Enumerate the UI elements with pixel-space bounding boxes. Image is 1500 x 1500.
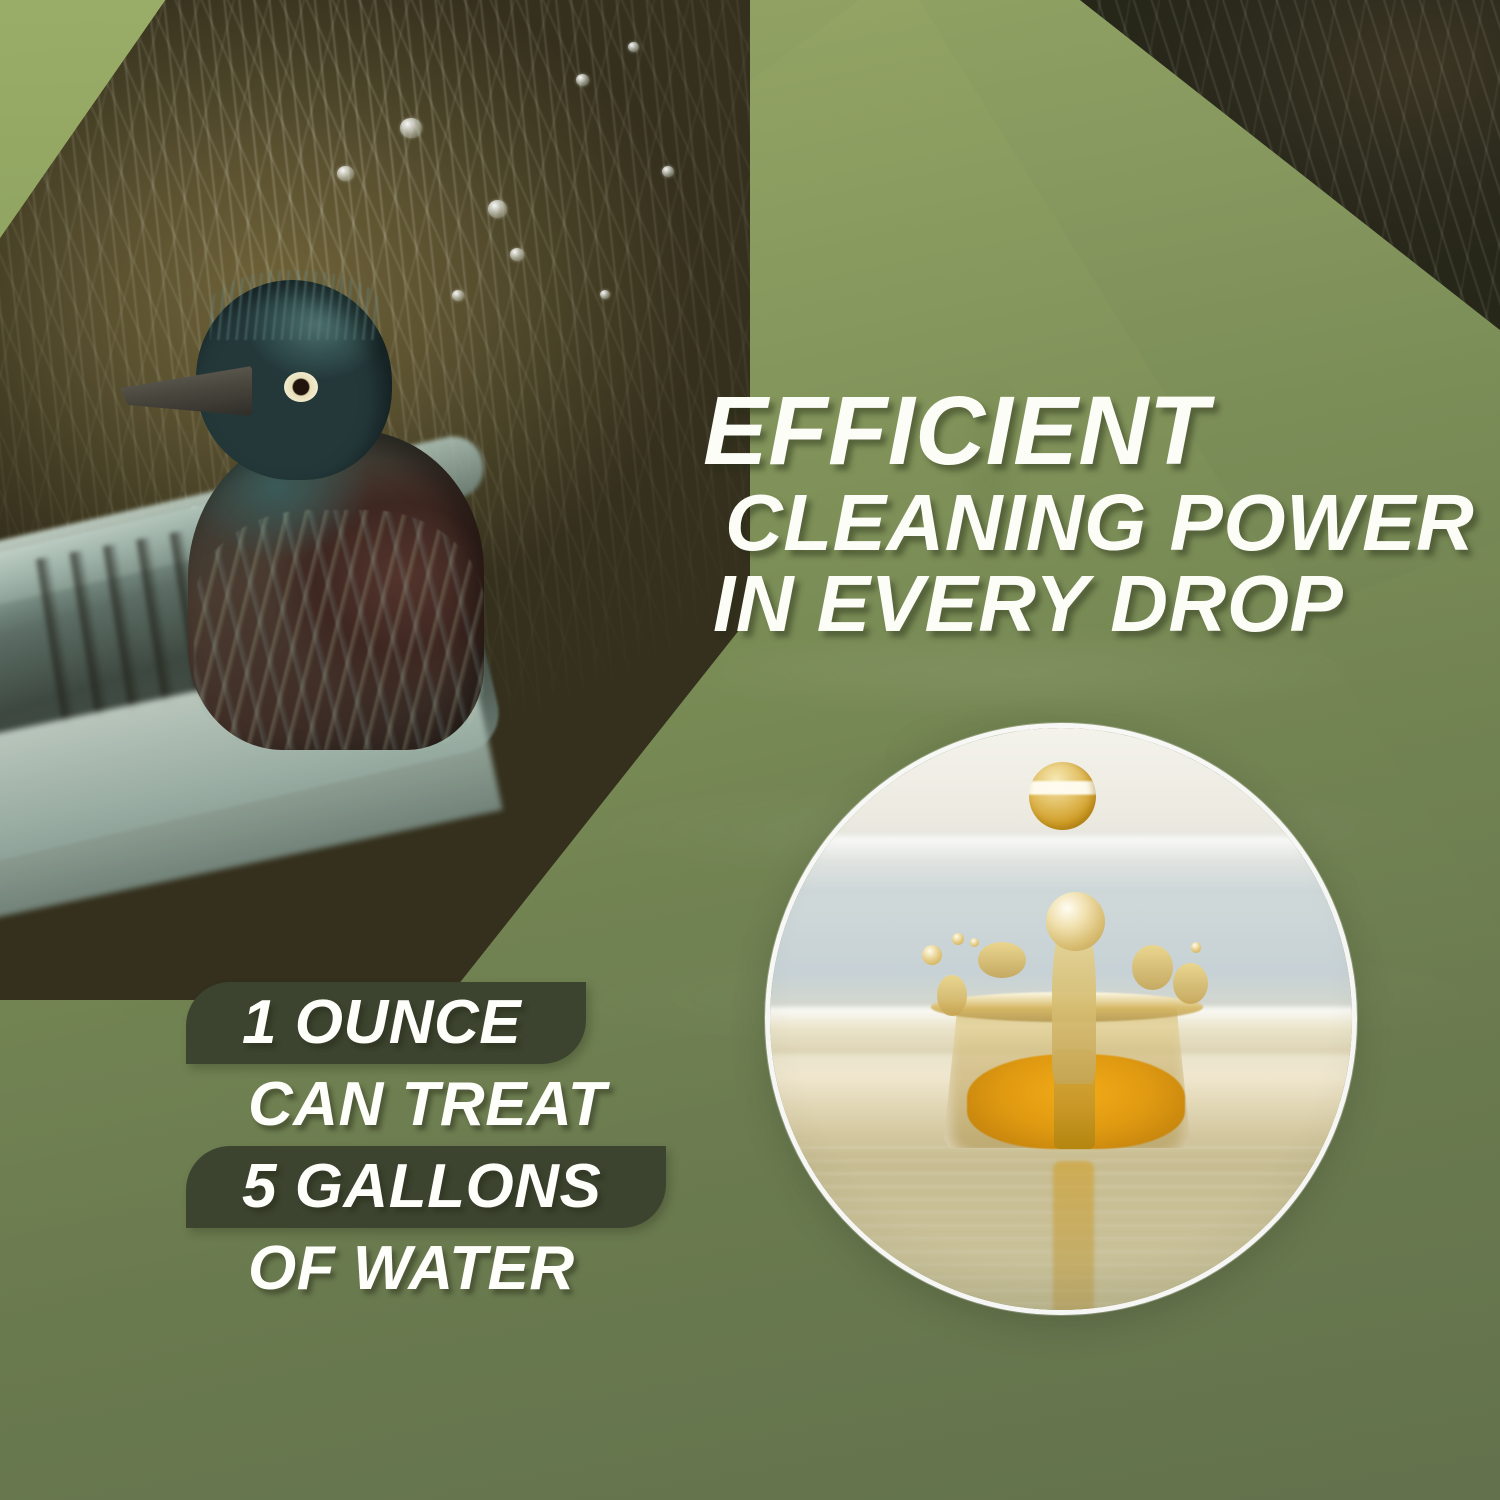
splash-tendril-left-inner <box>978 942 1025 977</box>
claim-text: 1 OUNCE <box>186 992 521 1054</box>
claim-text: CAN TREAT <box>186 1074 606 1136</box>
claim-row: OF WATER <box>186 1228 806 1310</box>
bird-figure <box>158 280 488 750</box>
product-lifestyle-poster: EFFICIENT CLEANING POWER IN EVERY DROP <box>0 0 1500 1500</box>
headline-line-2: CLEANING POWER <box>725 485 1463 562</box>
water-bead <box>488 200 507 218</box>
claim-text: 5 GALLONS <box>186 1156 601 1218</box>
splash-tendril-left <box>937 975 967 1016</box>
claim-row: 5 GALLONS <box>186 1146 806 1228</box>
dosage-claim-block: 1 OUNCE CAN TREAT 5 GALLONS OF WATER <box>186 982 806 1310</box>
column-reflection <box>1053 1161 1094 1314</box>
spray-droplet <box>952 933 964 945</box>
water-bead <box>400 118 422 138</box>
water-bead <box>600 290 610 299</box>
falling-droplet <box>1029 762 1097 830</box>
water-bead <box>662 166 674 177</box>
droplet-circle-inset <box>765 723 1357 1315</box>
water-bead <box>628 42 639 52</box>
droplet-photo-scene <box>766 724 1356 1314</box>
droplet-photo-horizon-band <box>766 836 1356 895</box>
bird-crest-feathers <box>210 270 380 340</box>
headline-line-3: IN EVERY DROP <box>713 566 1463 643</box>
claim-row: CAN TREAT <box>186 1064 806 1146</box>
headline-block: EFFICIENT CLEANING POWER IN EVERY DROP <box>703 384 1463 643</box>
water-bead <box>576 74 589 86</box>
splash-column-tip-bead <box>1046 892 1105 951</box>
bird-feather-texture <box>194 510 484 750</box>
claim-text: OF WATER <box>186 1238 575 1300</box>
claim-row: 1 OUNCE <box>186 982 806 1064</box>
water-bead <box>510 248 524 261</box>
spray-droplet <box>970 938 979 947</box>
water-bead <box>337 166 354 181</box>
bird-eye <box>284 372 318 402</box>
splash-tendril-right-inner <box>1132 945 1173 989</box>
headline-line-1: EFFICIENT <box>703 384 1463 477</box>
